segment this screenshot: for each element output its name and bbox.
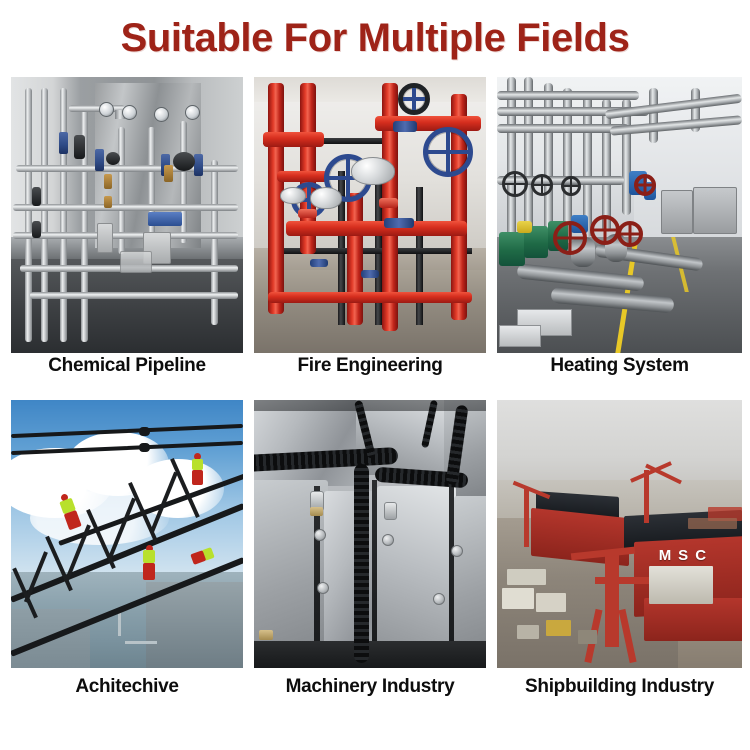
black-pipe bbox=[416, 187, 423, 325]
bolted-flange bbox=[310, 259, 328, 267]
green-pump bbox=[499, 232, 525, 266]
photo-chemical-pipeline bbox=[11, 77, 243, 353]
gallery-item-chemical-pipeline[interactable]: Chemical Pipeline bbox=[11, 77, 243, 378]
pressure-gauge bbox=[122, 105, 137, 120]
red-hand-wheel bbox=[590, 215, 620, 245]
yard-building bbox=[507, 569, 546, 585]
pipe-collar bbox=[298, 209, 317, 218]
gallery-caption: Chemical Pipeline bbox=[11, 353, 243, 378]
pipe-collar bbox=[379, 198, 398, 208]
gallery-item-shipbuilding-industry[interactable]: MSC Shipbuild bbox=[497, 400, 742, 701]
vertical-pipe bbox=[602, 99, 611, 231]
pier bbox=[118, 612, 121, 636]
control-box bbox=[120, 251, 152, 273]
bolt bbox=[433, 593, 445, 605]
gallery-caption: Shipbuilding Industry bbox=[497, 674, 742, 699]
worker-overalls bbox=[143, 563, 155, 580]
bolt bbox=[382, 534, 394, 546]
stacked-material bbox=[517, 625, 539, 638]
worker bbox=[143, 550, 155, 580]
gallery-item-fire-engineering[interactable]: Fire Engineering bbox=[254, 77, 486, 378]
yard-building bbox=[536, 593, 565, 612]
red-header-pipe bbox=[375, 116, 482, 131]
casing-seam bbox=[449, 475, 454, 668]
horizontal-pipe bbox=[13, 232, 238, 239]
page-title: Suitable For Multiple Fields bbox=[0, 14, 750, 62]
black-valve bbox=[32, 221, 41, 238]
hose-clamp bbox=[384, 502, 397, 520]
gallery-item-heating-system[interactable]: Heating System bbox=[497, 77, 742, 378]
overhead-pipe bbox=[497, 91, 639, 100]
red-header-pipe bbox=[263, 132, 323, 147]
pier bbox=[125, 641, 157, 644]
bolt bbox=[314, 529, 326, 541]
gallery-caption: Machinery Industry bbox=[254, 674, 486, 699]
black-hand-wheel bbox=[502, 171, 528, 197]
blue-equipment-box bbox=[148, 212, 182, 226]
cable-clamp bbox=[139, 443, 150, 452]
pressure-gauge bbox=[185, 105, 200, 120]
photo-machinery-industry bbox=[254, 400, 486, 668]
photo-shipbuilding-industry: MSC bbox=[497, 400, 742, 668]
vertical-pipe bbox=[41, 88, 48, 342]
casing-seam bbox=[372, 480, 377, 668]
yellow-pump-cap bbox=[517, 221, 532, 233]
black-valve bbox=[106, 152, 120, 165]
black-pipe bbox=[268, 248, 472, 254]
black-valve bbox=[74, 135, 85, 159]
blue-hand-wheel bbox=[423, 127, 473, 177]
stacked-material bbox=[578, 630, 598, 643]
gallery-item-machinery-industry[interactable]: Machinery Industry bbox=[254, 400, 486, 701]
gallery-caption: Achitechive bbox=[11, 674, 243, 699]
vertical-pipe bbox=[507, 77, 516, 237]
horizontal-pipe bbox=[16, 165, 239, 172]
blue-valve bbox=[194, 154, 203, 176]
container-stack bbox=[688, 518, 737, 529]
black-hand-wheel bbox=[531, 174, 553, 196]
bolted-flange bbox=[384, 218, 414, 228]
pump-plinth bbox=[499, 325, 540, 346]
application-gallery-grid: Chemical Pipeline bbox=[11, 77, 750, 737]
brass-fitting bbox=[104, 196, 112, 208]
silver-valve-body bbox=[280, 187, 306, 204]
vertical-pipe bbox=[211, 160, 218, 326]
bolt bbox=[451, 545, 463, 557]
electrical-cabinet bbox=[661, 190, 692, 233]
hi-vis-vest bbox=[143, 550, 155, 563]
gantry-crane-jib bbox=[595, 577, 649, 584]
control-box bbox=[97, 223, 113, 253]
photo-achitechive bbox=[11, 400, 243, 668]
promo-banner: Suitable For Multiple Fields bbox=[0, 0, 750, 750]
pressure-gauge bbox=[99, 102, 114, 117]
brass-fitting bbox=[310, 507, 323, 516]
gallery-caption: Fire Engineering bbox=[254, 353, 486, 378]
red-hand-wheel bbox=[553, 221, 587, 255]
blue-valve bbox=[95, 149, 104, 171]
stacked-material bbox=[546, 620, 571, 636]
silver-valve-body bbox=[310, 187, 342, 209]
vertical-pipe bbox=[649, 88, 658, 143]
yard-building bbox=[502, 588, 534, 609]
gallery-item-achitechive[interactable]: Achitechive bbox=[11, 400, 243, 701]
shadow-base bbox=[254, 641, 486, 668]
bolted-flange bbox=[393, 121, 417, 132]
black-hand-wheel bbox=[561, 176, 581, 196]
worker-overalls bbox=[192, 470, 203, 485]
hand-wheel bbox=[398, 83, 430, 115]
electrical-cabinet bbox=[693, 187, 737, 233]
dock-crane-mast bbox=[644, 470, 649, 524]
shadow-top bbox=[254, 400, 486, 411]
horizontal-pipe bbox=[30, 292, 239, 299]
black-valve bbox=[32, 187, 41, 206]
horizontal-pipe bbox=[13, 204, 238, 211]
cable-clamp bbox=[139, 427, 150, 436]
corrugated-hose bbox=[354, 464, 369, 662]
red-header-pipe bbox=[268, 292, 472, 303]
hi-vis-vest bbox=[192, 459, 203, 470]
photo-heating-system bbox=[497, 77, 742, 353]
red-riser-pipe bbox=[347, 193, 363, 325]
photo-fire-engineering bbox=[254, 77, 486, 353]
red-hand-wheel bbox=[634, 174, 656, 196]
brass-fitting bbox=[164, 165, 173, 182]
ship-deckhouse bbox=[649, 566, 713, 604]
red-header-pipe bbox=[277, 171, 328, 182]
ship-hull-msc bbox=[644, 598, 742, 641]
pressure-gauge bbox=[154, 107, 169, 122]
silver-valve-body bbox=[351, 157, 395, 185]
gallery-caption: Heating System bbox=[497, 353, 742, 378]
black-valve bbox=[173, 152, 195, 171]
blue-valve bbox=[59, 132, 68, 154]
gantry-crane-tower bbox=[605, 555, 619, 646]
worker bbox=[192, 459, 203, 485]
brass-fitting bbox=[259, 630, 273, 640]
bolted-flange bbox=[361, 270, 379, 278]
bolt bbox=[317, 582, 329, 594]
engine-casing bbox=[254, 400, 356, 486]
vertical-pipe bbox=[25, 88, 32, 342]
brass-fitting bbox=[104, 174, 112, 189]
dock-crane-mast bbox=[524, 488, 529, 547]
red-header-pipe bbox=[286, 221, 467, 236]
vertical-pipe bbox=[60, 88, 67, 342]
ship-name-msc: MSC bbox=[659, 547, 713, 564]
red-hand-wheel bbox=[617, 221, 643, 247]
